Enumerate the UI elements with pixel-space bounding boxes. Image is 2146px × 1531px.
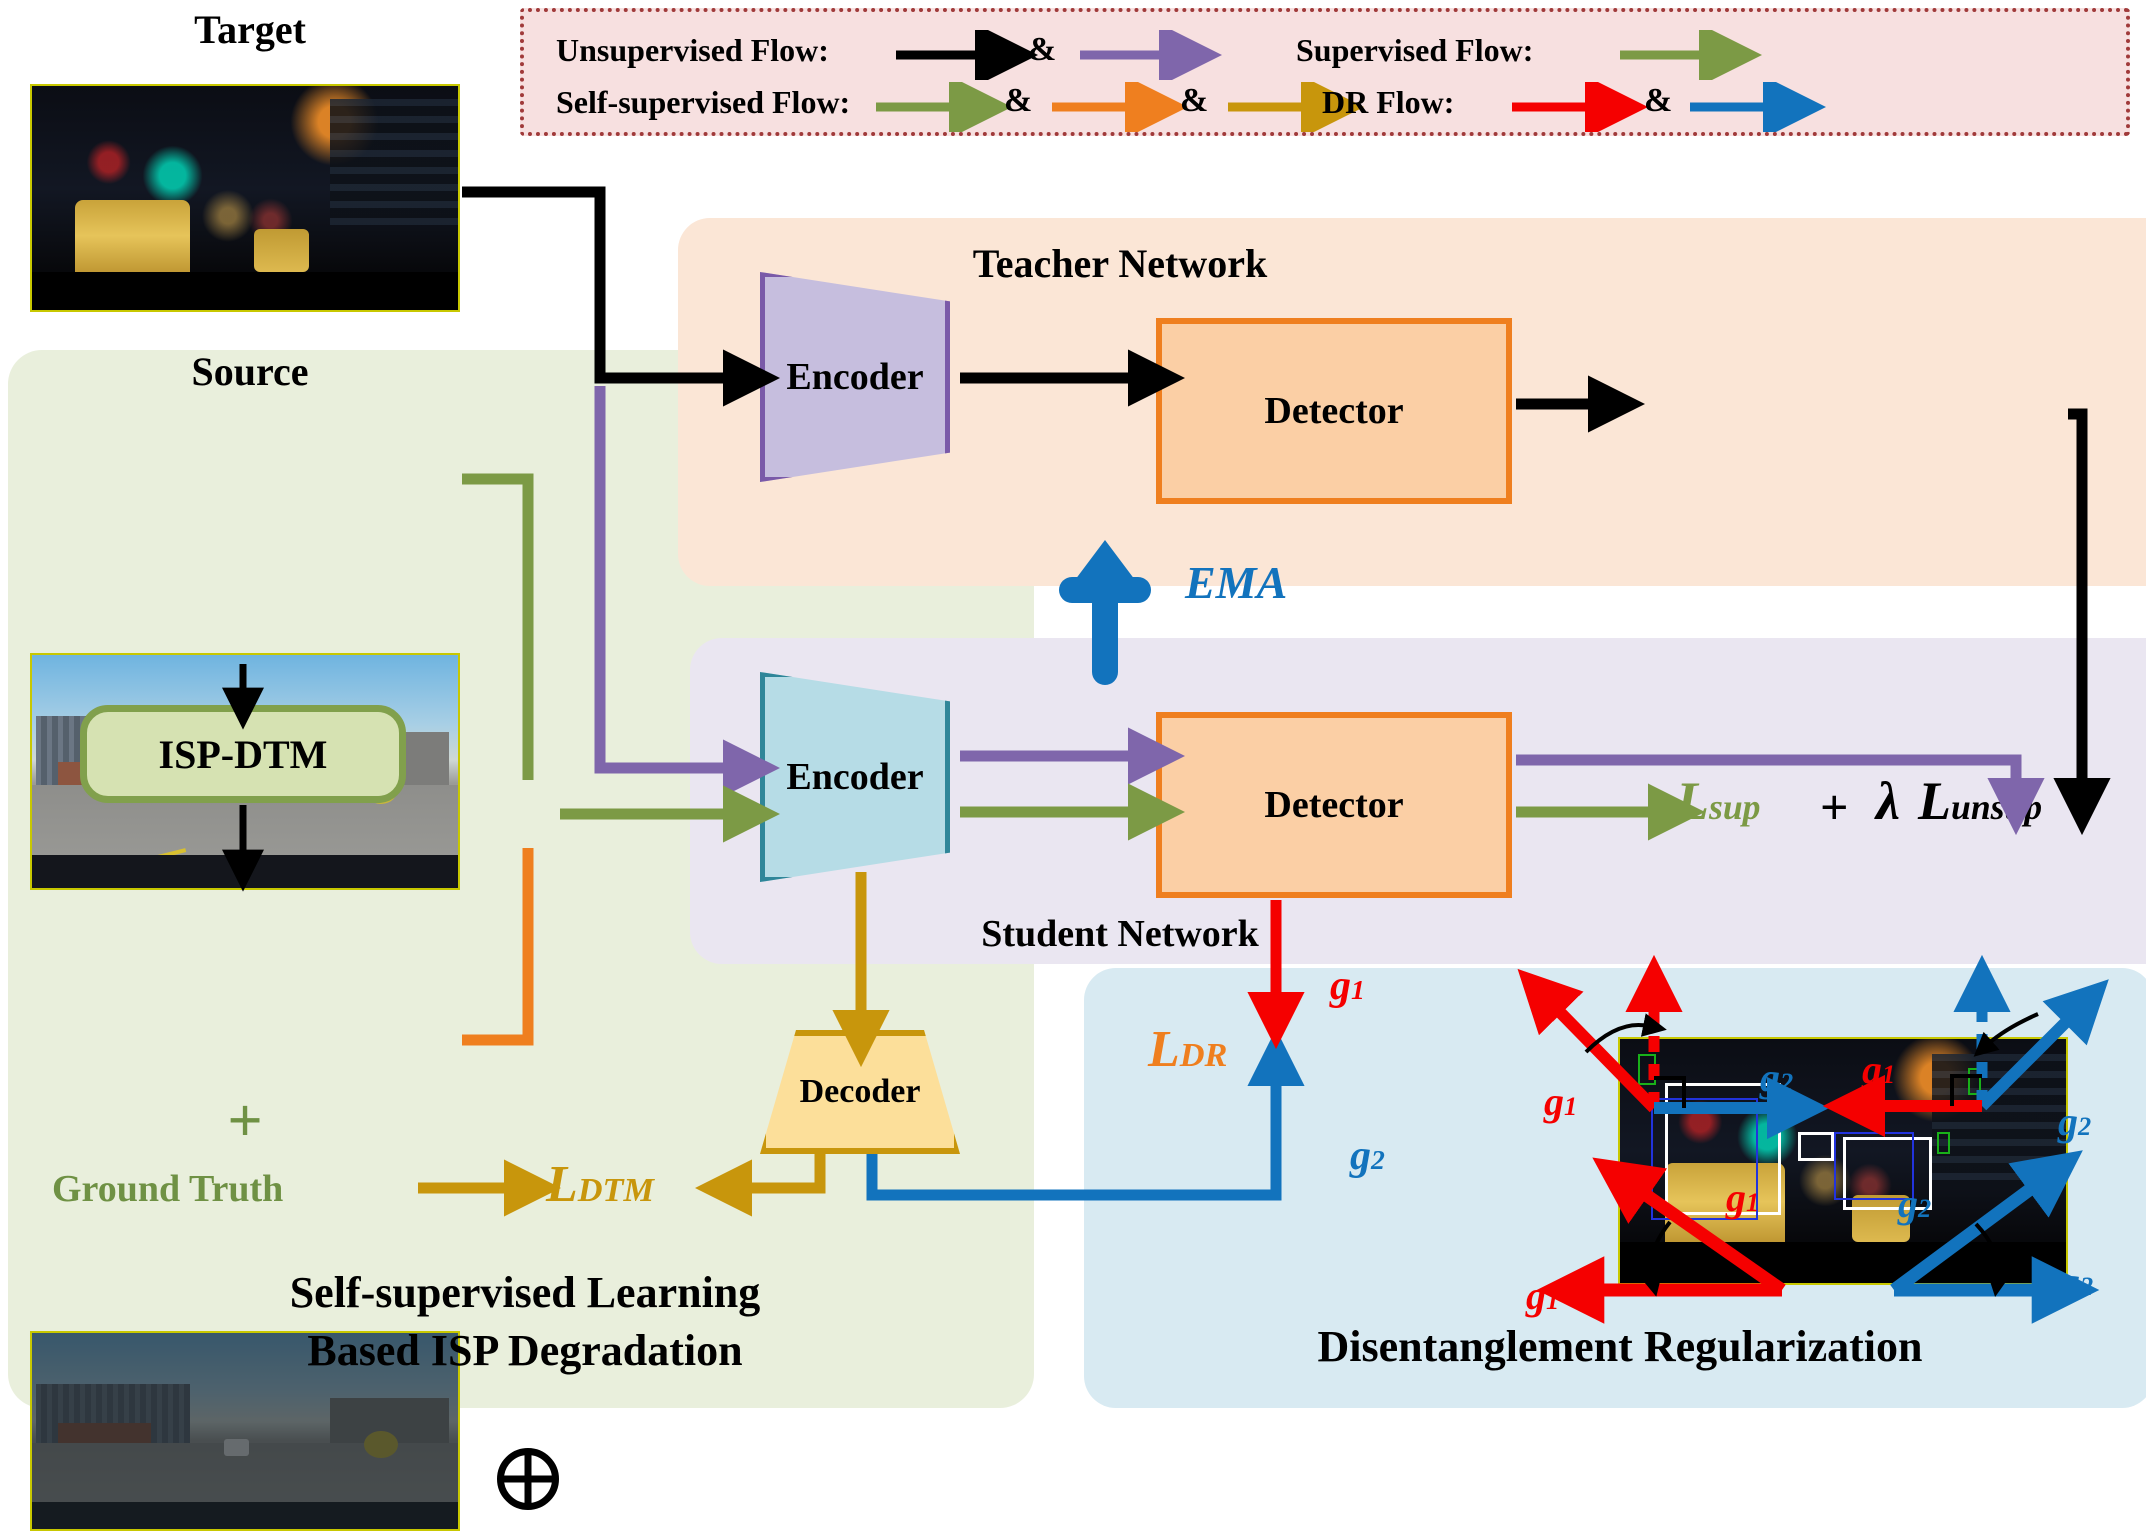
loss-unsup-base: L — [1918, 771, 1951, 831]
dr-tl-g2-base: g — [1760, 1055, 1780, 1100]
dr-title: Disentanglement Regularization — [1100, 1320, 2140, 1372]
oplus-merge-icon — [497, 1448, 559, 1510]
dr-br-g2b-label: g2 — [2060, 1258, 2093, 1305]
student-detector[interactable]: Detector — [1156, 712, 1512, 898]
teacher-detector-label: Detector — [1264, 389, 1403, 433]
loss-dtm-base: L — [546, 1156, 578, 1213]
ground-truth-label: Ground Truth — [52, 1167, 283, 1211]
student-network-title: Student Network — [880, 912, 1360, 956]
legend-arrow-unsup-black — [892, 30, 1252, 80]
legend-arrow-dr-blue — [1686, 82, 1886, 132]
loss-dtm-sub: DTM — [578, 1171, 654, 1209]
ema-label: EMA — [1185, 556, 1287, 609]
dr-g1-top-label: g1 — [1330, 962, 1365, 1010]
dr-g2-bottom-label: g2 — [1350, 1132, 1385, 1180]
dr-br-g2a-sub: 2 — [1918, 1193, 1931, 1223]
dr-tr-g2-base: g — [2058, 1099, 2078, 1144]
dr-bl-g1b-base: g — [1526, 1273, 1546, 1318]
dr-bl-g1a-label: g1 — [1726, 1174, 1759, 1221]
legend-label-dr: DR Flow: — [1322, 84, 1454, 121]
dr-tl-g1-label: g1 — [1544, 1078, 1577, 1125]
dr-tl-g2-sub: 2 — [1780, 1067, 1793, 1097]
dr-bl-g1b-sub: 1 — [1546, 1285, 1559, 1315]
dr-g2-bottom-base: g — [1350, 1133, 1371, 1179]
loss-lambda: λ — [1876, 770, 1900, 832]
target-image — [30, 84, 460, 312]
loss-dr-label: LDR — [1148, 1020, 1227, 1079]
dr-br-g2a-label: g2 — [1898, 1180, 1931, 1227]
loss-plus-sign: + — [1820, 778, 1849, 836]
loss-sup-base: L — [1676, 771, 1709, 831]
dr-g1-top-sub: 1 — [1351, 974, 1365, 1005]
isp-degradation-title-line2: Based ISP Degradation — [130, 1326, 920, 1374]
legend-arrow-sup-green — [1616, 30, 1856, 80]
dr-tl-g1-sub: 1 — [1564, 1091, 1577, 1121]
legend-amp-1: & — [1028, 31, 1056, 69]
loss-dtm-label: LDTM — [546, 1155, 654, 1214]
dr-tr-g2-label: g2 — [2058, 1098, 2091, 1145]
loss-sup-sub: sup — [1709, 787, 1761, 827]
dr-g1-top-base: g — [1330, 963, 1351, 1009]
legend-amp-4: & — [1644, 82, 1672, 120]
dr-g2-bottom-sub: 2 — [1371, 1144, 1385, 1175]
isp-dtm-module[interactable]: ISP-DTM — [80, 705, 406, 803]
dr-bl-g1a-sub: 1 — [1746, 1187, 1759, 1217]
isp-dtm-label: ISP-DTM — [159, 731, 328, 778]
legend-label-unsupervised: Unsupervised Flow: — [556, 32, 829, 69]
student-encoder-label: Encoder — [786, 755, 923, 799]
dr-br-g2b-base: g — [2060, 1259, 2080, 1304]
legend-label-self-supervised: Self-supervised Flow: — [556, 84, 850, 121]
dr-tr-g1-sub: 1 — [1882, 1059, 1895, 1089]
loss-unsup-label: Lunsup — [1918, 770, 2042, 832]
dr-tl-g1-base: g — [1544, 1079, 1564, 1124]
dr-tr-g2-sub: 2 — [2078, 1111, 2091, 1141]
loss-dr-base: L — [1148, 1021, 1180, 1078]
isp-degradation-title-line1: Self-supervised Learning — [130, 1268, 920, 1316]
plus-sign: + — [195, 1090, 295, 1152]
student-encoder[interactable]: Encoder — [760, 672, 950, 882]
source-label: Source — [30, 348, 470, 394]
teacher-network-title: Teacher Network — [860, 240, 1380, 286]
teacher-encoder-label: Encoder — [786, 355, 923, 399]
legend-arrow-selfsup-green — [872, 82, 1072, 132]
decoder-label: Decoder — [800, 1073, 921, 1111]
student-detector-label: Detector — [1264, 783, 1403, 827]
dr-tl-g2-label: g2 — [1760, 1054, 1793, 1101]
dr-br-g2b-sub: 2 — [2080, 1271, 2093, 1301]
teacher-detector[interactable]: Detector — [1156, 318, 1512, 504]
detection-output-image — [1618, 1037, 2068, 1285]
dr-bl-g1b-label: g1 — [1526, 1272, 1559, 1319]
legend-amp-3: & — [1180, 82, 1208, 120]
loss-unsup-sub: unsup — [1951, 787, 2042, 827]
loss-dr-sub: DR — [1180, 1036, 1228, 1074]
dr-tr-g1-base: g — [1862, 1047, 1882, 1092]
dr-tr-g1-label: g1 — [1862, 1046, 1895, 1093]
loss-sup-label: Lsup — [1676, 770, 1761, 832]
legend-content: Unsupervised Flow: & Supervised Flow: Se… — [556, 18, 2116, 130]
legend-arrow-dr-red — [1508, 82, 1708, 132]
dr-bl-g1a-base: g — [1726, 1175, 1746, 1220]
teacher-encoder[interactable]: Encoder — [760, 272, 950, 482]
target-label: Target — [30, 6, 470, 52]
legend-label-supervised: Supervised Flow: — [1296, 32, 1533, 69]
legend-arrow-unsup-purple — [1076, 30, 1316, 80]
legend-amp-2: & — [1004, 82, 1032, 120]
legend-arrow-selfsup-orange — [1048, 82, 1248, 132]
dr-br-g2a-base: g — [1898, 1181, 1918, 1226]
